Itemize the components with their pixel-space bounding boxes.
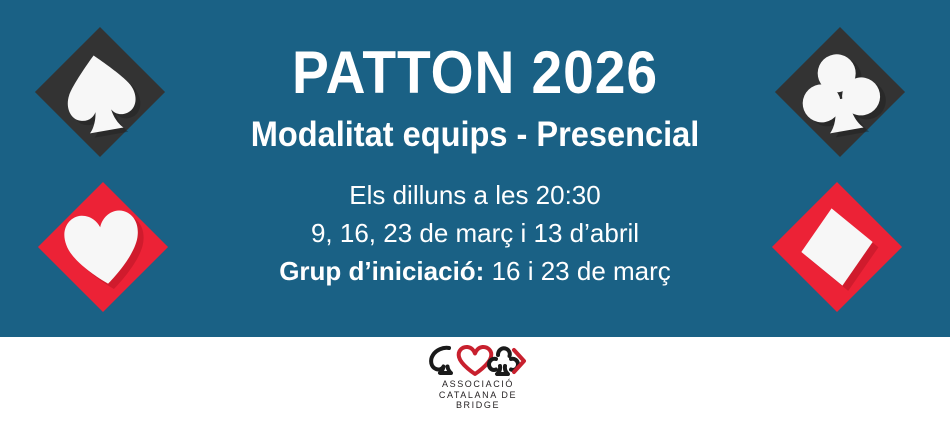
event-details: Els dilluns a les 20:30 9, 16, 23 de mar…	[0, 154, 950, 290]
headline-text-block: PATTON 2026 Modalitat equips - Presencia…	[0, 0, 950, 290]
page-title: PATTON 2026	[38, 0, 912, 104]
acb-bridge-suits-logo-icon	[423, 344, 527, 378]
patton-2026-banner: PATTON 2026 Modalitat equips - Presencia…	[0, 0, 950, 433]
acb-logo-line-3: BRIDGE	[456, 400, 500, 410]
page-subtitle: Modalitat equips - Presencial	[33, 104, 917, 154]
acb-logo-text: ASSOCIACIÓ CATALANA DE BRIDGE	[0, 379, 950, 411]
acb-logo-line-2: CATALANA DE	[439, 390, 517, 400]
detail-line-schedule: Els dilluns a les 20:30	[0, 176, 950, 214]
detail-beginners-dates: 16 i 23 de març	[484, 256, 670, 286]
acb-logo: ASSOCIACIÓ CATALANA DE BRIDGE	[0, 340, 950, 411]
detail-beginners-label: Grup d’iniciació:	[279, 256, 484, 286]
acb-logo-line-1: ASSOCIACIÓ	[442, 379, 514, 389]
detail-line-dates: 9, 16, 23 de març i 13 d’abril	[0, 214, 950, 252]
detail-line-beginners: Grup d’iniciació: 16 i 23 de març	[0, 252, 950, 290]
